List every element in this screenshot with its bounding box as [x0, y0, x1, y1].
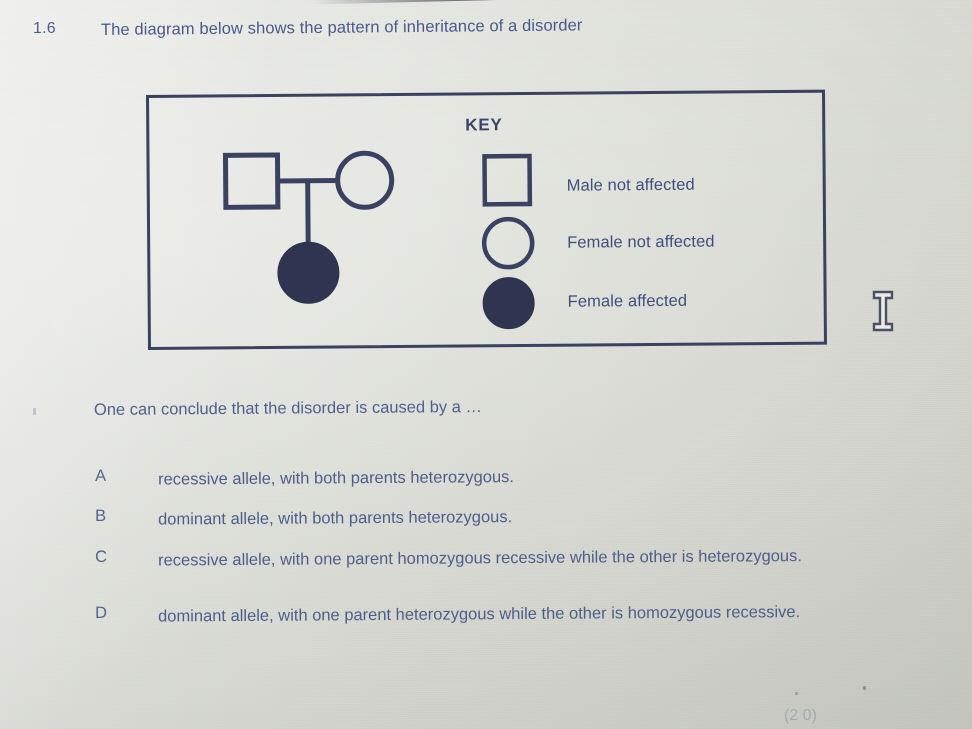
- exam-question-content: 1.6 The diagram below shows the pattern …: [0, 0, 972, 729]
- answer-options-list: A recessive allele, with both parents he…: [0, 0, 972, 729]
- text-ibeam-cursor-icon: [868, 289, 898, 333]
- photo-speck: [33, 408, 36, 415]
- answer-option-c-text: recessive allele, with one parent homozy…: [158, 542, 918, 574]
- answer-option-b-text: dominant allele, with both parents heter…: [158, 501, 918, 533]
- answer-option-a-letter: A: [95, 467, 106, 486]
- answer-option-b-letter: B: [95, 507, 106, 526]
- answer-option-a-text: recessive allele, with both parents hete…: [158, 461, 918, 493]
- photo-speck: [863, 686, 866, 690]
- answer-option-d-text: dominant allele, with one parent heteroz…: [158, 598, 918, 630]
- photo-speck: [795, 692, 798, 695]
- bottom-partial-text-artifact: (2 0): [784, 707, 934, 729]
- answer-option-d-letter: D: [95, 604, 107, 623]
- answer-option-c-letter: C: [95, 548, 107, 567]
